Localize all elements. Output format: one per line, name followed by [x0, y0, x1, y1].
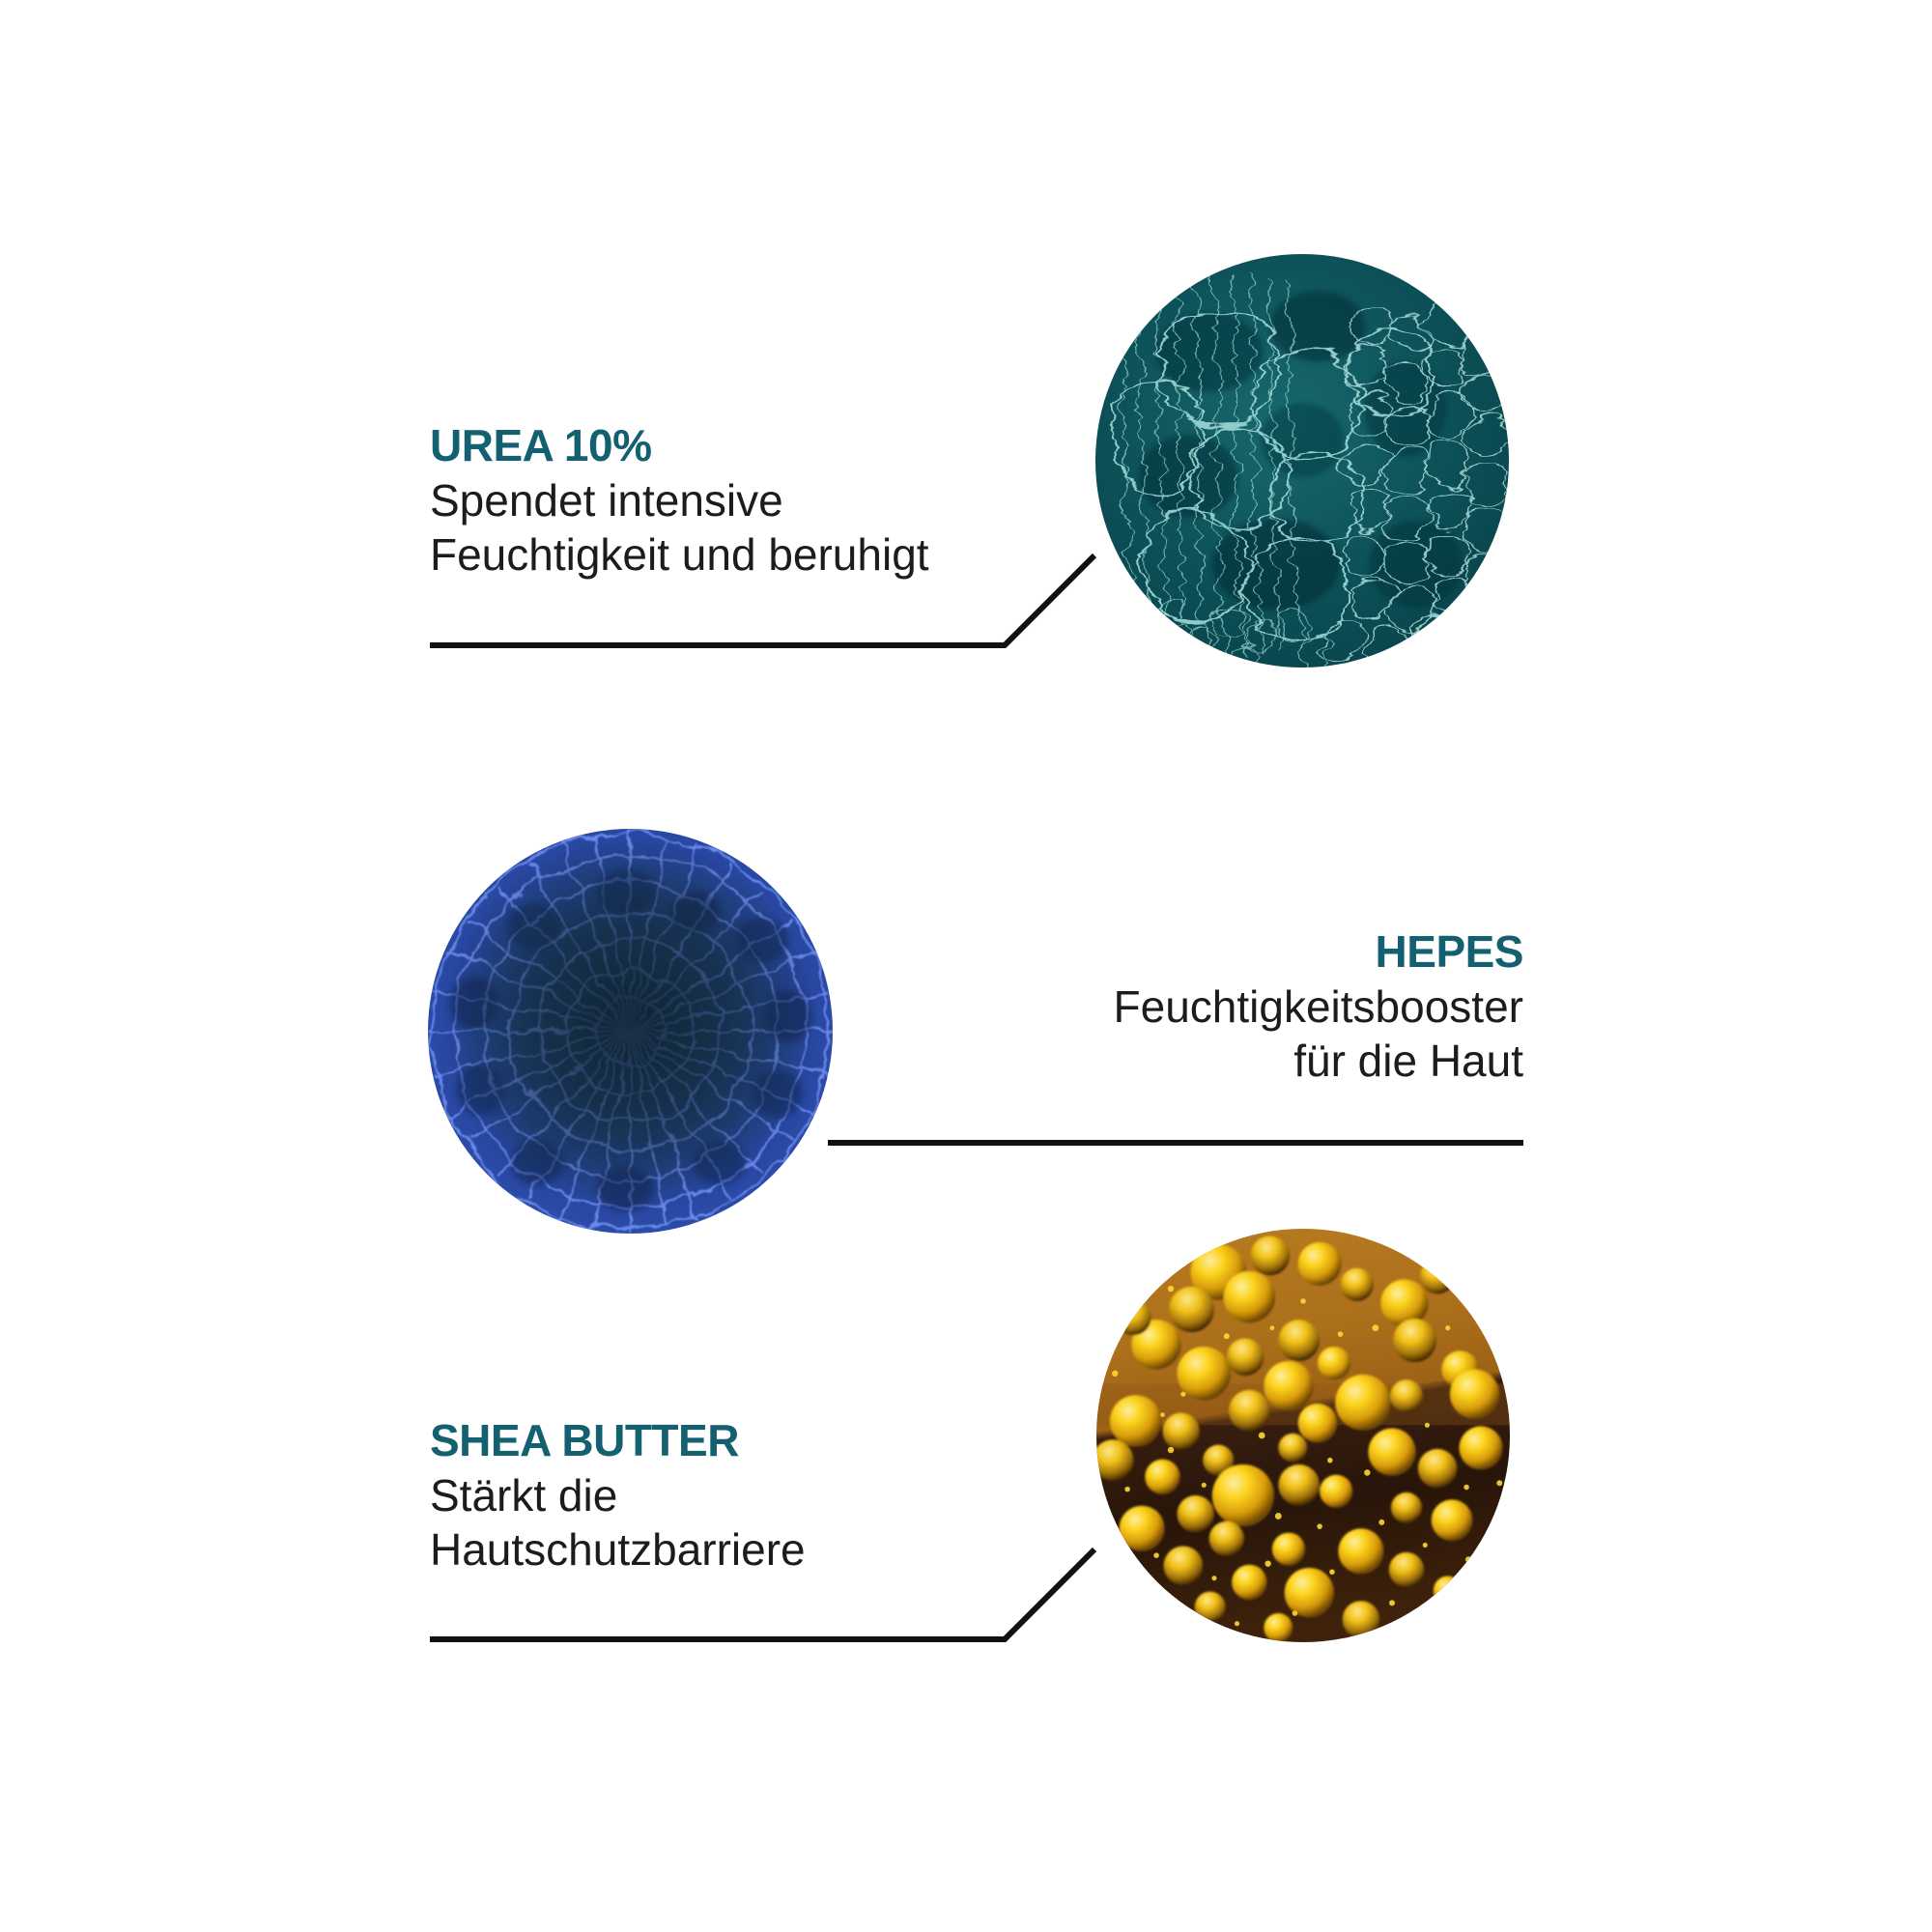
ingredient-name-shea: SHEA BUTTER [430, 1418, 806, 1463]
ingredient-swatch-hepes [428, 829, 833, 1234]
ingredient-swatch-urea [1095, 254, 1509, 668]
ingredient-description-hepes: Feuchtigkeitsbooster für die Haut [828, 980, 1523, 1088]
blue-cell-macro-icon [428, 829, 833, 1234]
ingredient-block-hepes: HEPES Feuchtigkeitsbooster für die Haut [828, 929, 1523, 1088]
ingredient-description-shea: Stärkt die Hautschutzbarriere [430, 1468, 806, 1577]
ingredient-block-shea: SHEA BUTTER Stärkt die Hautschutzbarrier… [430, 1418, 806, 1577]
ingredient-description-hepes-line1: Feuchtigkeitsbooster [828, 980, 1523, 1034]
ingredient-description-shea-line2: Hautschutzbarriere [430, 1522, 806, 1577]
ingredient-name-urea: UREA 10% [430, 423, 929, 468]
ingredient-description-shea-line1: Stärkt die [430, 1468, 806, 1522]
golden-oil-bubbles-macro-icon [1096, 1229, 1510, 1642]
turquoise-cell-macro-icon [1095, 254, 1509, 668]
ingredient-infographic: UREA 10% Spendet intensive Feuchtigkeit … [0, 0, 1932, 1932]
ingredient-name-hepes: HEPES [828, 929, 1523, 974]
ingredient-swatch-shea [1096, 1229, 1510, 1642]
ingredient-description-hepes-line2: für die Haut [828, 1034, 1523, 1088]
ingredient-description-urea-line1: Spendet intensive [430, 473, 929, 527]
ingredient-description-urea-line2: Feuchtigkeit und beruhigt [430, 527, 929, 582]
ingredient-description-urea: Spendet intensive Feuchtigkeit und beruh… [430, 473, 929, 582]
ingredient-block-urea: UREA 10% Spendet intensive Feuchtigkeit … [430, 423, 929, 582]
